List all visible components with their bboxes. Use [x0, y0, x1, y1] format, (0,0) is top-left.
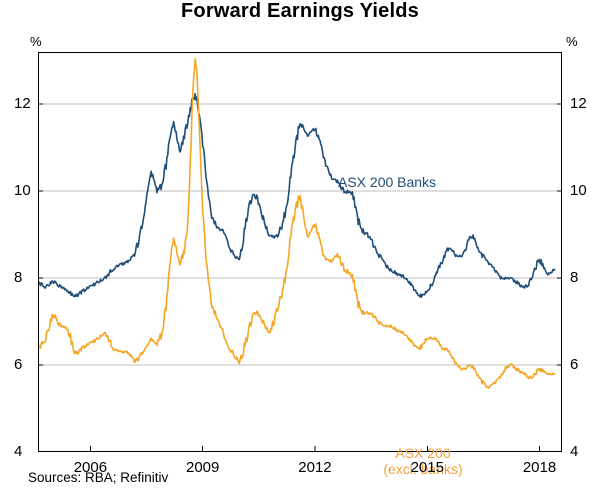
y-tick-label-left: 6 — [14, 357, 22, 372]
y-tick-label-left: 12 — [14, 96, 31, 111]
series-label-banks: ASX 200 Banks — [338, 174, 436, 190]
y-tick-label-right: 10 — [570, 183, 587, 198]
y-tick-label-left: 10 — [14, 183, 31, 198]
y-axis-unit-left: % — [30, 34, 42, 49]
y-tick-label-left: 8 — [14, 270, 22, 285]
x-tick-label: 2012 — [285, 460, 345, 475]
plot-frame — [38, 52, 562, 452]
chart-title: Forward Earnings Yields — [0, 0, 600, 23]
y-axis-unit-right: % — [566, 34, 578, 49]
plot-area: ASX 200 Banks ASX 200 (excl. banks) — [38, 52, 562, 452]
y-tick-label-right: 6 — [570, 357, 578, 372]
y-tick-label-right: 4 — [570, 444, 578, 459]
chart-container: Forward Earnings Yields % % ASX 200 Bank… — [0, 0, 600, 495]
x-tick-label: 2009 — [173, 460, 233, 475]
source-note: Sources: RBA; Refinitiv — [28, 470, 168, 485]
x-tick-label: 2018 — [510, 460, 570, 475]
y-tick-label-right: 12 — [570, 96, 587, 111]
y-tick-label-left: 4 — [14, 444, 22, 459]
y-tick-label-right: 8 — [570, 270, 578, 285]
x-tick-label: 2015 — [397, 460, 457, 475]
